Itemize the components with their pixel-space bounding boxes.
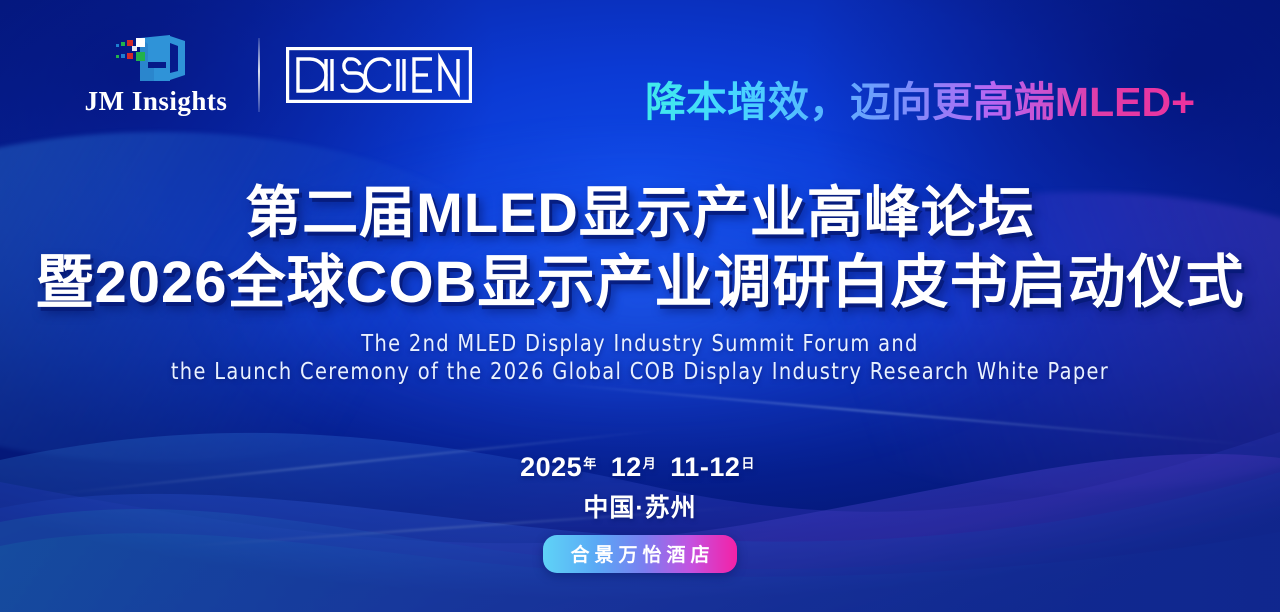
jm-insights-wordmark: JM Insights (85, 86, 228, 117)
event-month: 12 (611, 452, 642, 482)
event-city: 中国·苏州 (0, 488, 1280, 524)
title-line-2: 暨2026全球COB显示产业调研白皮书启动仪式 (0, 251, 1280, 316)
event-month-unit: 月 (643, 456, 657, 471)
event-venue-wrapper: 合景万怡酒店 (0, 524, 1280, 573)
event-date: 2025年12月11-12日 (0, 452, 1280, 483)
subtitle-line-1: The 2nd MLED Display Industry Summit For… (38, 330, 1241, 358)
logo-header: JM Insights (76, 32, 472, 117)
event-year-unit: 年 (583, 456, 597, 471)
logo-divider (258, 38, 260, 112)
subtitle-line-2: the Launch Ceremony of the 2026 Global C… (38, 358, 1241, 386)
event-tagline: 降本增效，迈向更高端MLED+ (620, 68, 1220, 128)
event-days: 11-12 (670, 452, 740, 482)
event-subtitle-english: The 2nd MLED Display Industry Summit For… (38, 330, 1241, 386)
jm-insights-logo[interactable]: JM Insights (76, 32, 236, 117)
event-year: 2025 (520, 452, 582, 482)
jm-window-pixel-logo-icon (110, 32, 202, 84)
title-line-1: 第二届MLED显示产业高峰论坛 (0, 182, 1280, 245)
event-venue-badge: 合景万怡酒店 (543, 535, 736, 573)
event-meta: 2025年12月11-12日 中国·苏州 合景万怡酒店 (0, 452, 1280, 573)
discien-outline-logo-icon (286, 47, 472, 103)
event-poster: JM Insights (0, 0, 1280, 612)
event-day-unit: 日 (741, 456, 755, 471)
discien-logo[interactable] (286, 47, 472, 103)
event-title: 第二届MLED显示产业高峰论坛 暨2026全球COB显示产业调研白皮书启动仪式 (0, 182, 1280, 316)
